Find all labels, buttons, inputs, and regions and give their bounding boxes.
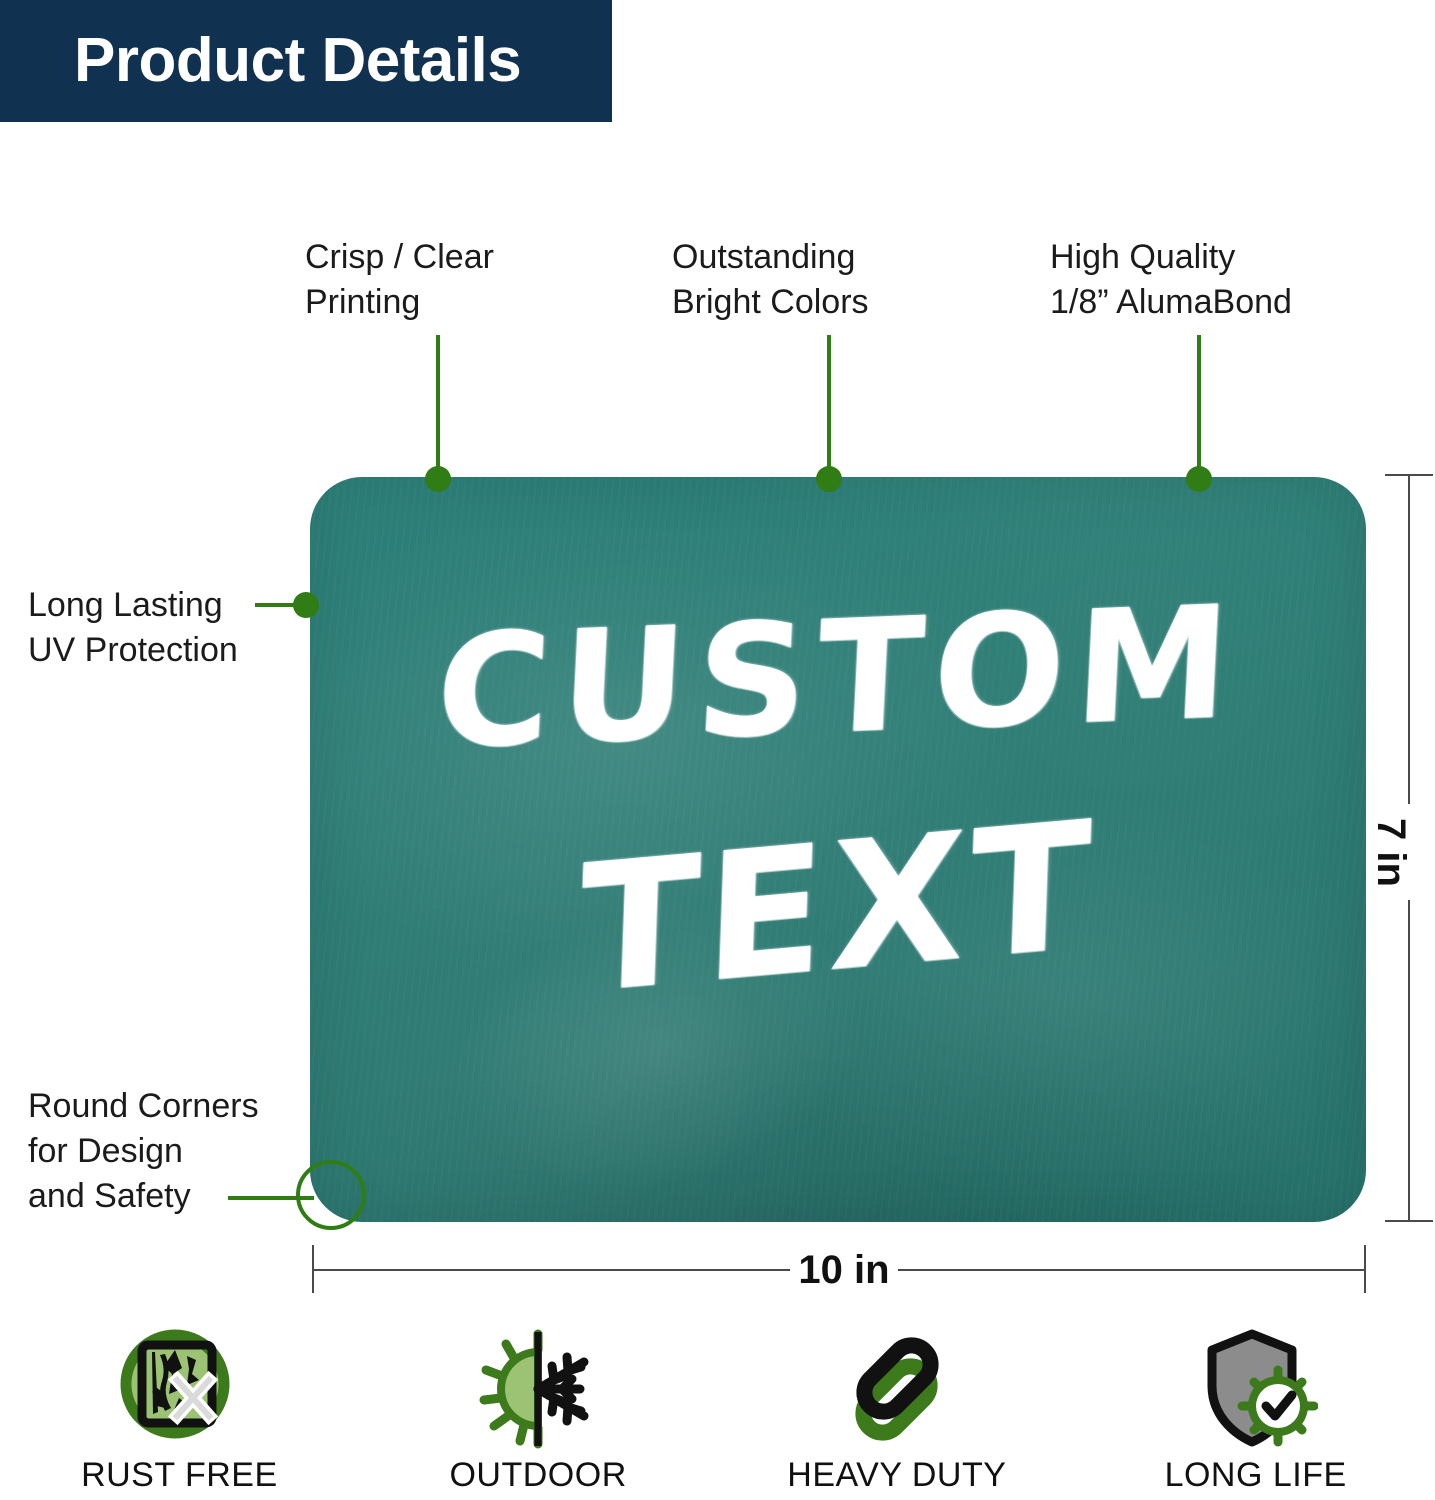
leader-dot-bright xyxy=(816,466,842,492)
feature-label-rust-free: RUST FREE xyxy=(81,1456,278,1495)
dimension-label-height: 7 in xyxy=(1381,806,1435,898)
dimension-label-width: 10 in xyxy=(790,1246,898,1294)
dimension-tick-height-bottom xyxy=(1385,1220,1433,1222)
corner-highlight-ring xyxy=(296,1160,366,1230)
header-banner: Product Details xyxy=(0,0,612,122)
leader-dot-uv xyxy=(293,592,319,618)
leader-line-bright xyxy=(827,335,831,483)
callout-label-outstanding-bright-colors: Outstanding Bright Colors xyxy=(672,235,869,325)
feature-label-outdoor: OUTDOOR xyxy=(449,1456,626,1495)
rust-free-icon xyxy=(117,1328,241,1450)
leader-dot-quality xyxy=(1186,466,1212,492)
feature-outdoor: OUTDOOR xyxy=(359,1328,718,1495)
feature-label-long-life: LONG LIFE xyxy=(1165,1456,1347,1495)
leader-line-quality xyxy=(1197,335,1201,483)
dimension-tick-height-top xyxy=(1385,474,1433,476)
chain-link-icon xyxy=(835,1328,959,1450)
callout-label-crisp-clear-printing: Crisp / Clear Printing xyxy=(305,235,494,325)
leader-dot-crisp xyxy=(425,466,451,492)
dimension-tick-width-right xyxy=(1364,1245,1366,1293)
shield-clock-icon xyxy=(1194,1328,1318,1450)
sun-snowflake-icon xyxy=(476,1328,600,1450)
callout-label-long-lasting-uv-protection: Long Lasting UV Protection xyxy=(28,583,238,673)
product-sign-board: CUSTOM TEXT xyxy=(310,477,1366,1222)
leader-line-crisp xyxy=(436,335,440,483)
dimension-line-width-left xyxy=(312,1269,790,1271)
feature-badge-row: RUST FREE xyxy=(0,1328,1435,1500)
page-title: Product Details xyxy=(74,24,521,98)
dimension-line-height-upper xyxy=(1408,474,1410,804)
dimension-line-width-right xyxy=(898,1269,1366,1271)
dimension-tick-width-left xyxy=(312,1245,314,1293)
callout-label-round-corners: Round Corners for Design and Safety xyxy=(28,1084,259,1219)
feature-heavy-duty: HEAVY DUTY xyxy=(718,1328,1077,1495)
callout-label-high-quality-alumabond: High Quality 1/8” AlumaBond xyxy=(1050,235,1292,325)
feature-long-life: LONG LIFE xyxy=(1076,1328,1435,1495)
dimension-line-height-lower xyxy=(1408,900,1410,1222)
feature-rust-free: RUST FREE xyxy=(0,1328,359,1495)
feature-label-heavy-duty: HEAVY DUTY xyxy=(787,1456,1006,1495)
